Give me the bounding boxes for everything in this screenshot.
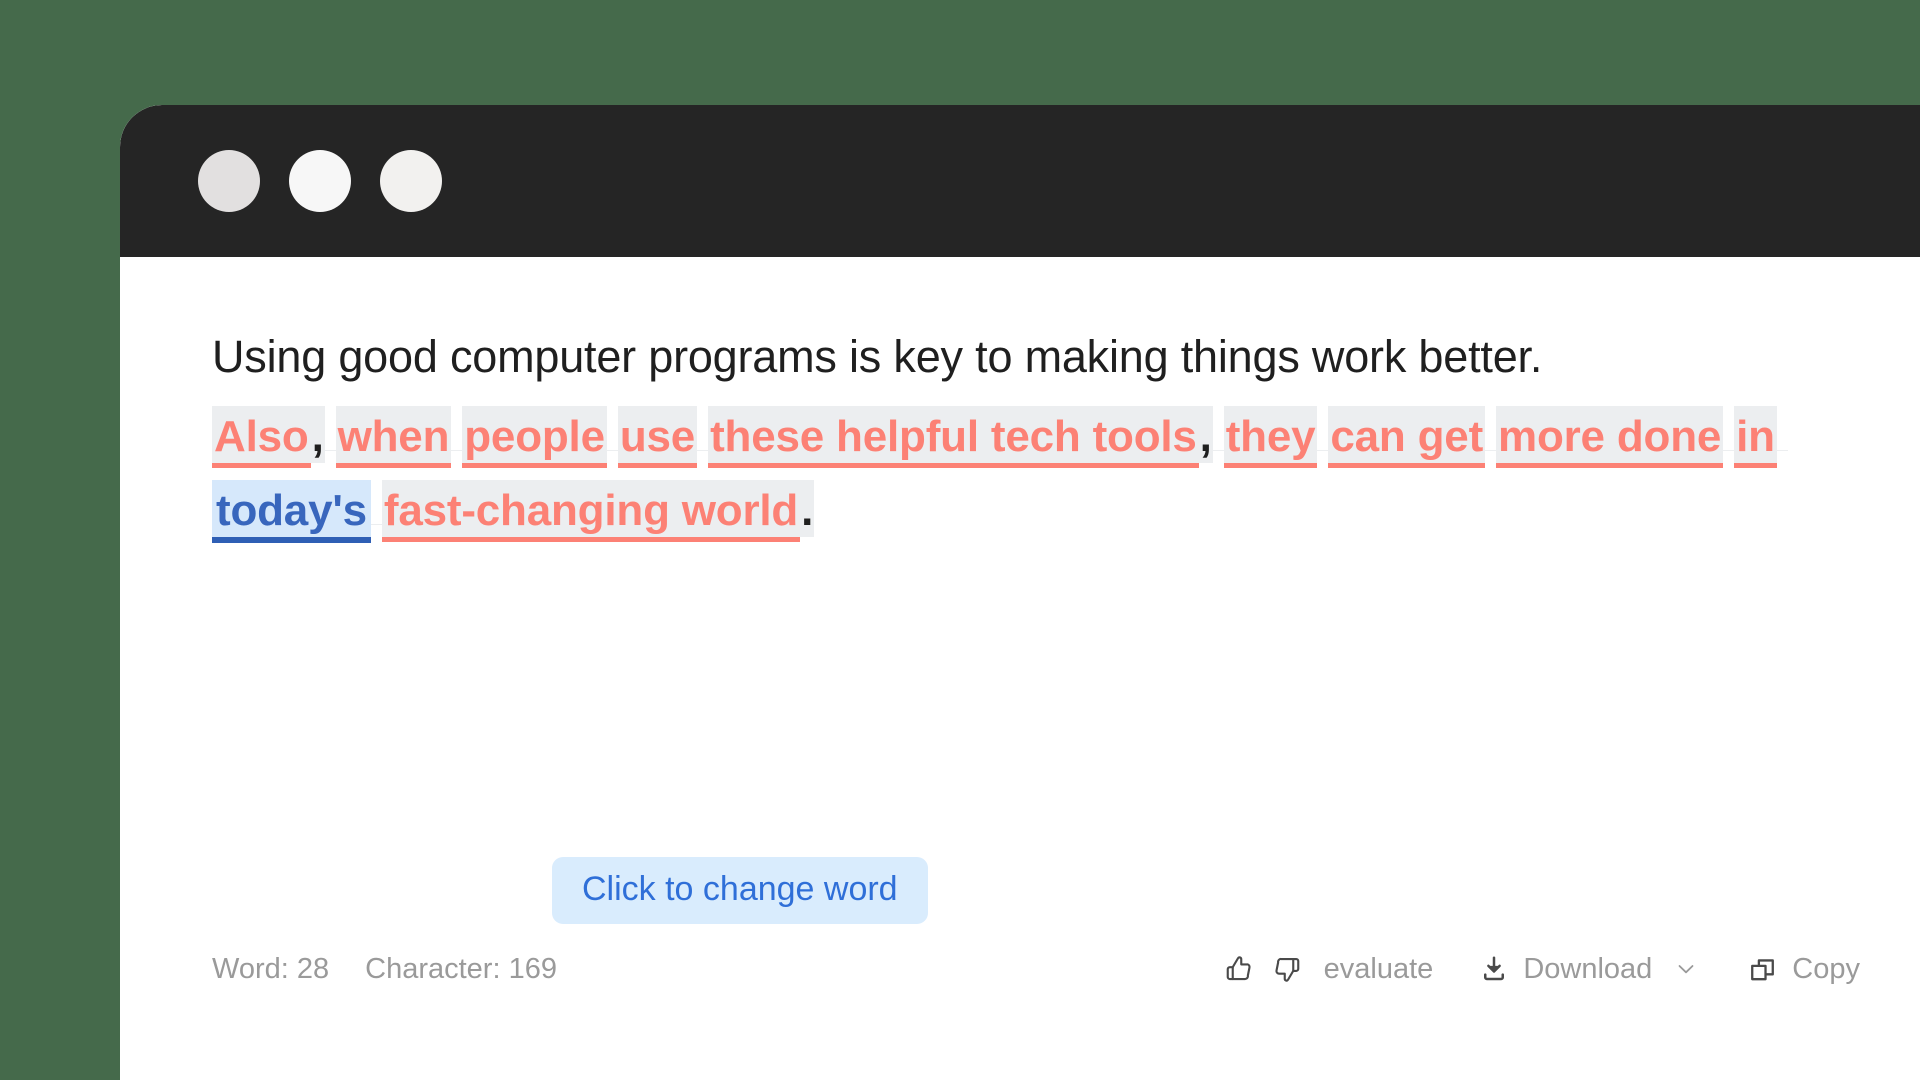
chunk-gap [1723, 450, 1734, 451]
suggestion-chunk-in[interactable]: in [1734, 406, 1777, 468]
punct-period: . [800, 480, 814, 537]
document-area: Using good computer programs is key to m… [120, 257, 1920, 1080]
browser-window: Using good computer programs is key to m… [120, 105, 1920, 1080]
suggestion-chunk-these-helpful-tech-tools[interactable]: these helpful tech tools [708, 406, 1199, 468]
document-stats: Word: 28 Character: 169 [212, 953, 557, 986]
window-dot-minimize[interactable] [289, 150, 351, 212]
copy-icon [1748, 955, 1777, 984]
suggestion-chunk-fast-changing-world[interactable]: fast-changing world [382, 480, 800, 542]
download-label: Download [1523, 953, 1652, 986]
chunk-gap [451, 450, 462, 451]
download-button[interactable]: Download [1479, 953, 1698, 986]
window-dot-maximize[interactable] [380, 150, 442, 212]
chunk-gap [1317, 450, 1328, 451]
thumbs-down-icon[interactable] [1272, 954, 1302, 984]
character-count: Character: 169 [365, 953, 557, 986]
chunk-gap [697, 450, 708, 451]
chunk-gap [325, 450, 336, 451]
suggestion-chunk-people[interactable]: people [462, 406, 607, 468]
chunk-gap [607, 450, 618, 451]
evaluate-button[interactable]: evaluate [1324, 953, 1434, 986]
suggestion-chunk-they[interactable]: they [1224, 406, 1318, 468]
window-titlebar [120, 105, 1920, 257]
word-count: Word: 28 [212, 953, 329, 986]
chunk-gap [1213, 450, 1224, 451]
change-word-tooltip[interactable]: Click to change word [552, 857, 928, 924]
punct-comma-1: , [311, 406, 325, 463]
suggestion-chunk-when[interactable]: when [336, 406, 452, 468]
window-dot-close[interactable] [198, 150, 260, 212]
suggestion-chunk-more-done[interactable]: more done [1496, 406, 1723, 468]
paragraph: Using good computer programs is key to m… [212, 321, 1862, 548]
punct-comma-2: , [1199, 406, 1213, 463]
chevron-down-icon [1674, 957, 1698, 981]
suggestion-chunk-can-get[interactable]: can get [1328, 406, 1485, 468]
evaluate-label: evaluate [1324, 953, 1434, 986]
suggestion-chunk-also[interactable]: Also [212, 406, 311, 468]
suggestion-chunk-use[interactable]: use [618, 406, 697, 468]
chunk-gap [1777, 450, 1788, 451]
copy-button[interactable]: Copy [1748, 953, 1860, 986]
copy-label: Copy [1792, 953, 1860, 986]
document-footer: Word: 28 Character: 169 [120, 946, 1920, 992]
suggestion-sentence: Also,whenpeopleusethese helpful tech too… [212, 412, 1788, 535]
download-icon [1479, 954, 1509, 984]
chunk-gap [371, 524, 382, 525]
selected-word-todays[interactable]: today's [212, 480, 371, 543]
thumbs-up-icon[interactable] [1224, 954, 1254, 984]
chunk-gap [1485, 450, 1496, 451]
editor-content[interactable]: Using good computer programs is key to m… [212, 321, 1862, 548]
footer-actions: evaluate Download [1224, 953, 1860, 986]
plain-sentence: Using good computer programs is key to m… [212, 321, 1862, 394]
